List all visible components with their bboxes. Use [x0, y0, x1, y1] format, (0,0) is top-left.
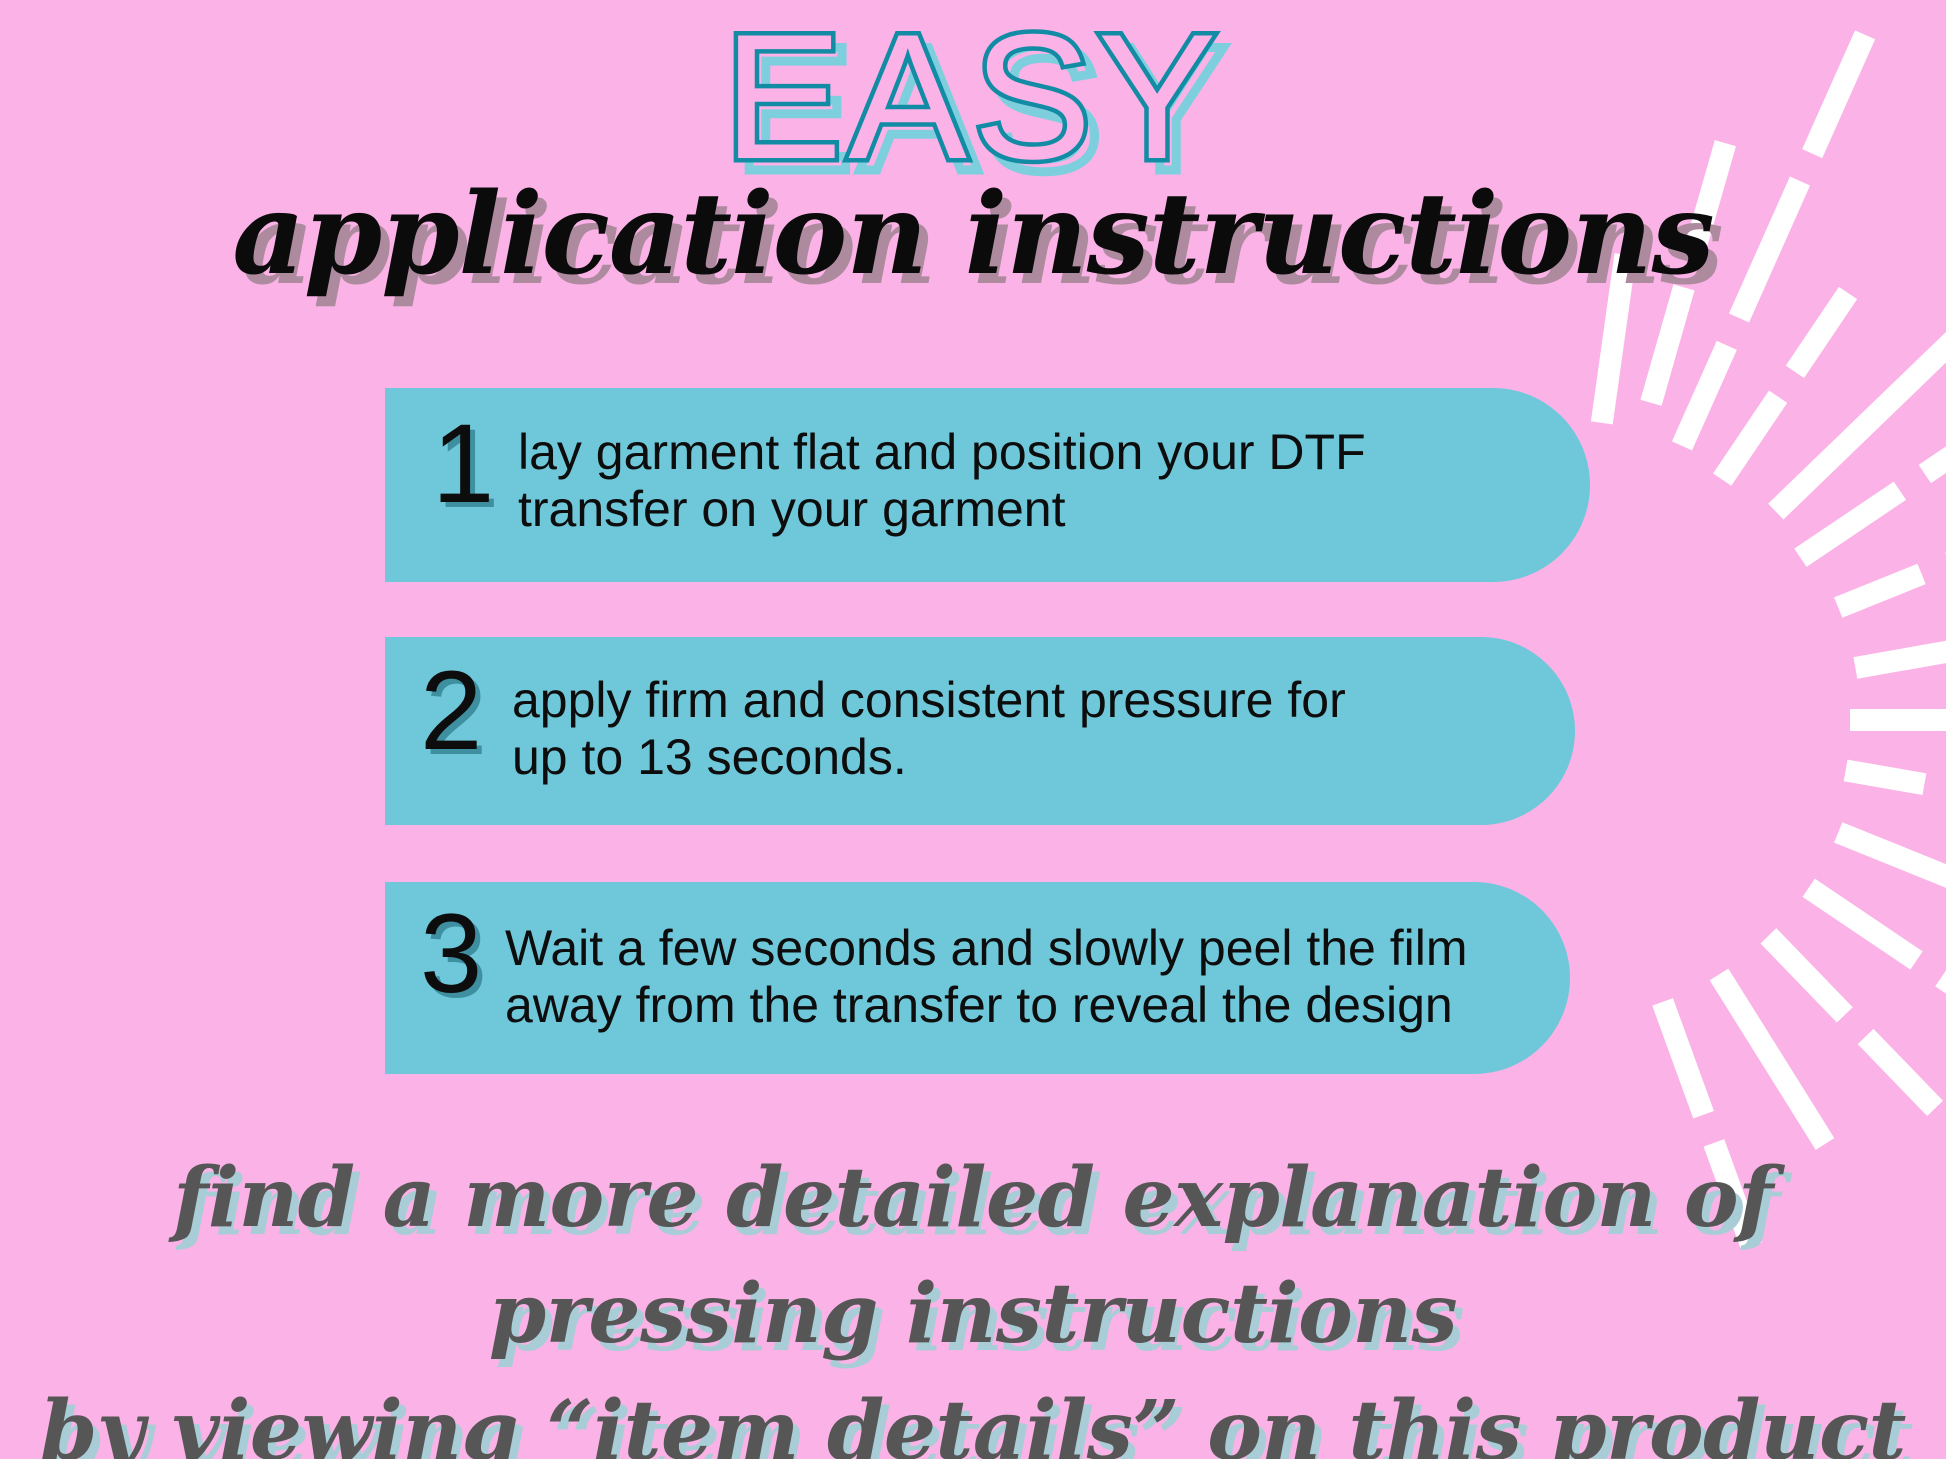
- sunburst-dash: [1719, 974, 1825, 1144]
- poster-canvas: EASY EASY EASY application instructions …: [0, 0, 1946, 1459]
- step-text-2: apply firm and consistent pressure for u…: [512, 672, 1532, 786]
- sunburst-dash: [1768, 936, 1844, 1015]
- sunburst-dash: [1846, 770, 1925, 784]
- title-application-instructions-main: application instructions: [0, 172, 1946, 297]
- sunburst-dash: [1809, 888, 1917, 961]
- sunburst-dash: [1941, 977, 1946, 1050]
- sunburst-dash: [1776, 317, 1946, 512]
- sunburst-dash: [1855, 647, 1946, 668]
- sunburst-dash: [1800, 491, 1900, 558]
- step-text-1: lay garment flat and position your DTF t…: [518, 424, 1538, 538]
- sunburst-dash: [1866, 1037, 1936, 1109]
- sunburst-dash: [1925, 410, 1946, 474]
- step-text-3: Wait a few seconds and slowly peel the f…: [505, 920, 1575, 1034]
- step-number-1: 1: [432, 408, 494, 520]
- title-easy-fill: EASY: [0, 8, 1946, 186]
- sunburst-dash: [1838, 832, 1946, 937]
- footer-caption-main: find a more detailed explanation of pres…: [0, 1140, 1946, 1459]
- sunburst-dash: [1722, 397, 1778, 480]
- step-number-2: 2: [420, 655, 482, 767]
- step-number-3: 3: [420, 898, 482, 1010]
- sunburst-dash: [1838, 574, 1921, 608]
- sunburst-dash: [1682, 345, 1727, 446]
- sunburst-dash: [1663, 1002, 1704, 1115]
